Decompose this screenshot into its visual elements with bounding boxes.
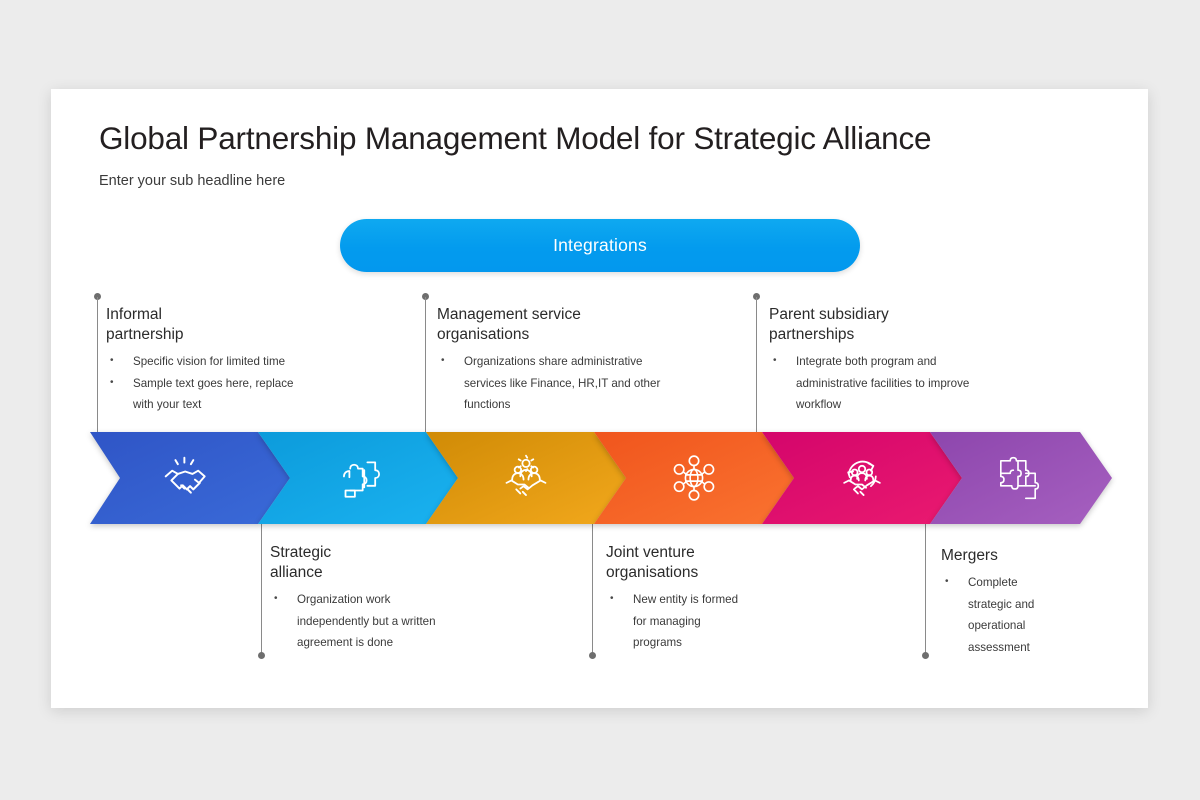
callout-heading: Parent subsidiary partnerships xyxy=(769,305,1069,345)
process-chevron-band xyxy=(90,432,1112,524)
list-item: New entity is formed for managing progra… xyxy=(606,589,741,654)
callout-bullets: Integrate both program and administrativ… xyxy=(769,351,1069,416)
callout-bullets: Specific vision for limited time Sample … xyxy=(106,351,406,416)
callout-heading: Management service organisations xyxy=(437,305,737,345)
list-item: Organizations share administrative servi… xyxy=(437,351,687,416)
callout-strategic-alliance: Strategic alliance Organization work ind… xyxy=(270,543,570,654)
callout-heading: Strategic alliance xyxy=(270,543,570,583)
page-title: Global Partnership Management Model for … xyxy=(99,120,931,157)
callout-bullets: Organizations share administrative servi… xyxy=(437,351,737,416)
callout-heading: Joint venture organisations xyxy=(606,543,906,583)
connector-line-bottom-1 xyxy=(261,520,262,656)
team-gear-handshake-icon xyxy=(500,452,552,504)
list-item: Specific vision for limited time xyxy=(106,351,406,373)
list-item: Complete strategic and operational asses… xyxy=(941,572,1056,658)
integrations-banner[interactable]: Integrations xyxy=(340,219,860,272)
slide-canvas: Global Partnership Management Model for … xyxy=(0,0,1200,800)
callout-joint-venture-organisations: Joint venture organisations New entity i… xyxy=(606,543,906,654)
callout-bullets: Complete strategic and operational asses… xyxy=(941,572,1200,658)
connector-dot-bottom-3 xyxy=(922,652,929,659)
connector-line-bottom-3 xyxy=(925,520,926,656)
connector-line-top-2 xyxy=(425,297,426,437)
team-cycle-handshake-icon xyxy=(836,452,888,504)
handshake-icon xyxy=(160,452,212,504)
callout-parent-subsidiary-partnerships: Parent subsidiary partnerships Integrate… xyxy=(769,305,1069,416)
puzzle-grid-icon xyxy=(993,453,1043,503)
list-item: Integrate both program and administrativ… xyxy=(769,351,992,416)
callout-bullets: New entity is formed for managing progra… xyxy=(606,589,906,654)
callout-informal-partnership: Informal partnership Specific vision for… xyxy=(106,305,406,416)
page-subtitle: Enter your sub headline here xyxy=(99,173,285,189)
connector-line-bottom-2 xyxy=(592,520,593,656)
connector-line-top-1 xyxy=(97,297,98,437)
callout-mergers: Mergers Complete strategic and operation… xyxy=(941,546,1200,658)
connector-dot-bottom-1 xyxy=(258,652,265,659)
global-network-icon xyxy=(669,453,719,503)
connector-line-top-3 xyxy=(756,297,757,437)
puzzle-hands-icon xyxy=(333,453,383,503)
callout-management-service-organisations: Management service organisations Organiz… xyxy=(437,305,737,416)
chevron-mergers[interactable] xyxy=(930,432,1112,524)
callout-heading: Informal partnership xyxy=(106,305,406,345)
callout-heading: Mergers xyxy=(941,546,1200,566)
list-item: Organization work independently but a wr… xyxy=(270,589,460,654)
connector-dot-bottom-2 xyxy=(589,652,596,659)
list-item: Sample text goes here, replace with your… xyxy=(106,373,301,416)
integrations-banner-label: Integrations xyxy=(553,235,647,256)
callout-bullets: Organization work independently but a wr… xyxy=(270,589,570,654)
